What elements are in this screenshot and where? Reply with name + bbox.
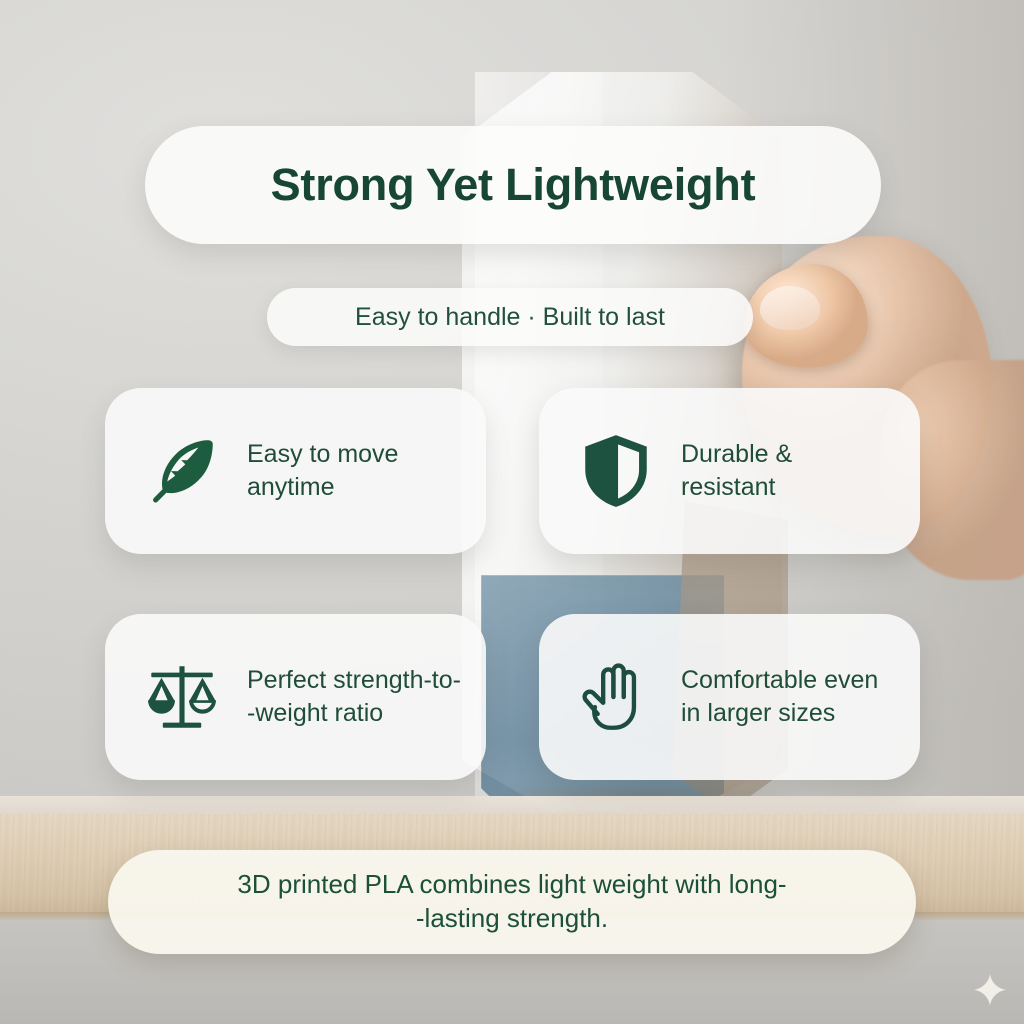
shield-icon <box>573 428 659 514</box>
banner-line-1: 3D printed PLA combines light weight wit… <box>237 869 786 899</box>
feature-card-label: Perfect strength-to- -weight ratio <box>247 664 461 730</box>
feature-line-1: Perfect strength-to- <box>247 666 461 694</box>
feature-card-strength-to-weight: Perfect strength-to- -weight ratio <box>105 614 486 780</box>
feature-line-1: Comfortable even <box>681 666 878 694</box>
feature-card-label: Easy to move anytime <box>247 438 398 504</box>
overlay-ui: Strong Yet Lightweight Easy to handle · … <box>0 0 1024 1024</box>
feature-card-comfortable: Comfortable even in larger sizes <box>539 614 920 780</box>
open-hand-icon <box>573 654 659 740</box>
footer-banner: 3D printed PLA combines light weight wit… <box>108 850 916 954</box>
footer-banner-text: 3D printed PLA combines light weight wit… <box>237 868 786 936</box>
feature-line-2: anytime <box>247 473 335 501</box>
balance-scale-icon <box>139 654 225 740</box>
feature-line-2: resistant <box>681 473 775 501</box>
feature-line-1: Easy to move <box>247 440 398 468</box>
feature-line-2: in larger sizes <box>681 699 835 727</box>
feature-card-label: Durable & resistant <box>681 438 792 504</box>
promo-graphic: Strong Yet Lightweight Easy to handle · … <box>0 0 1024 1024</box>
feature-line-2: -weight ratio <box>247 699 383 727</box>
feature-card-easy-to-move: Easy to move anytime <box>105 388 486 554</box>
feather-icon <box>139 428 225 514</box>
feature-line-1: Durable & <box>681 440 792 468</box>
feature-card-label: Comfortable even in larger sizes <box>681 664 878 730</box>
feature-card-durable: Durable & resistant <box>539 388 920 554</box>
sparkle-icon <box>972 972 1008 1008</box>
banner-line-2: -lasting strength. <box>416 903 608 933</box>
